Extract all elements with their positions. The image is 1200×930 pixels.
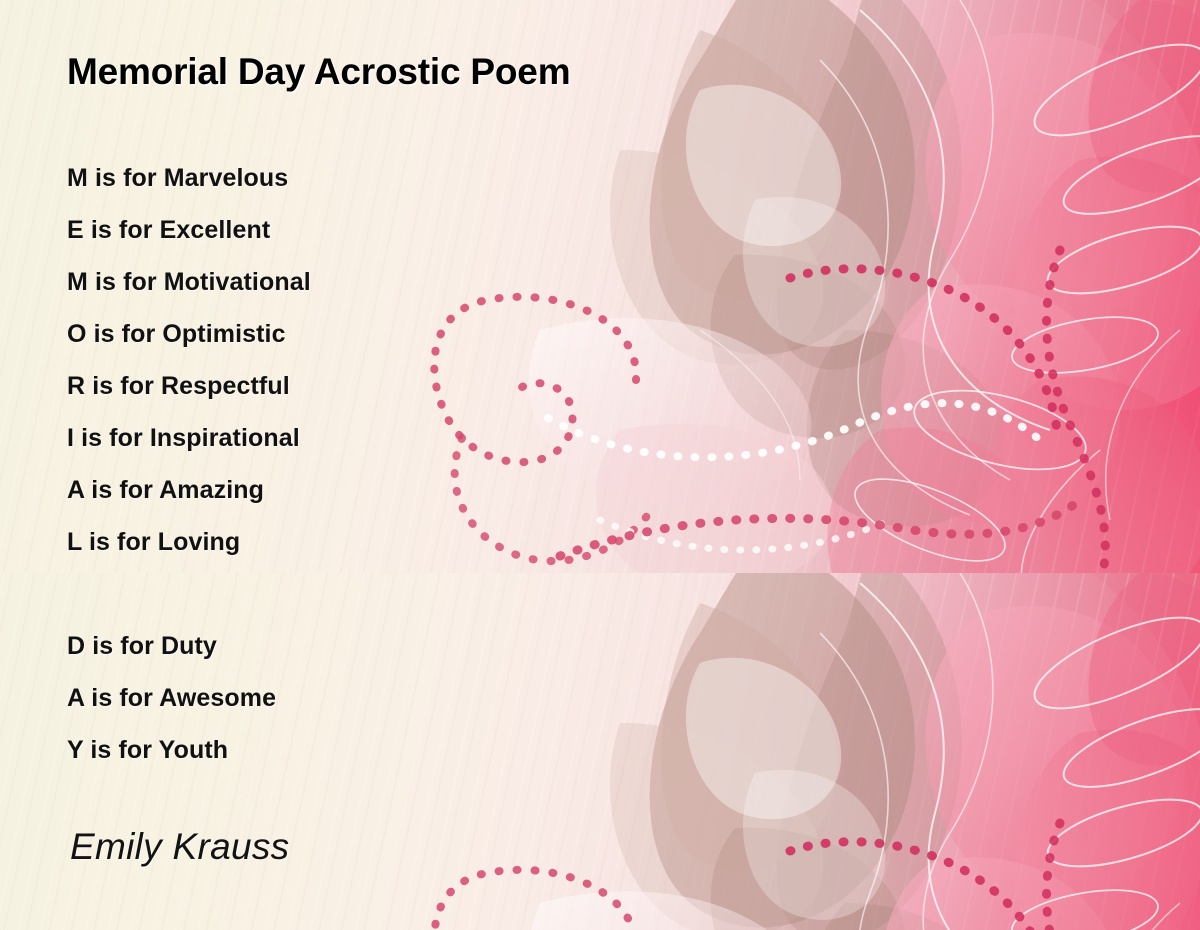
poem-line: D is for Duty	[67, 626, 707, 678]
stanza-gap	[67, 574, 707, 626]
poem-line: E is for Excellent	[67, 210, 707, 262]
author-name: Emily Krauss	[70, 826, 289, 868]
poem-stanzas: M is for Marvelous E is for Excellent M …	[67, 158, 707, 782]
poem-line: I is for Inspirational	[67, 418, 707, 470]
poem-line: L is for Loving	[67, 522, 707, 574]
poem-line: A is for Awesome	[67, 678, 707, 730]
poem-line: Y is for Youth	[67, 730, 707, 782]
poem-line: M is for Motivational	[67, 262, 707, 314]
poem-line: O is for Optimistic	[67, 314, 707, 366]
poem-image: Memorial Day Acrostic Poem M is for Marv…	[0, 0, 1200, 930]
poem-line: A is for Amazing	[67, 470, 707, 522]
poem-line: M is for Marvelous	[67, 158, 707, 210]
poem-content: Memorial Day Acrostic Poem M is for Marv…	[0, 0, 1200, 930]
page-title: Memorial Day Acrostic Poem	[67, 51, 570, 93]
poem-line: R is for Respectful	[67, 366, 707, 418]
